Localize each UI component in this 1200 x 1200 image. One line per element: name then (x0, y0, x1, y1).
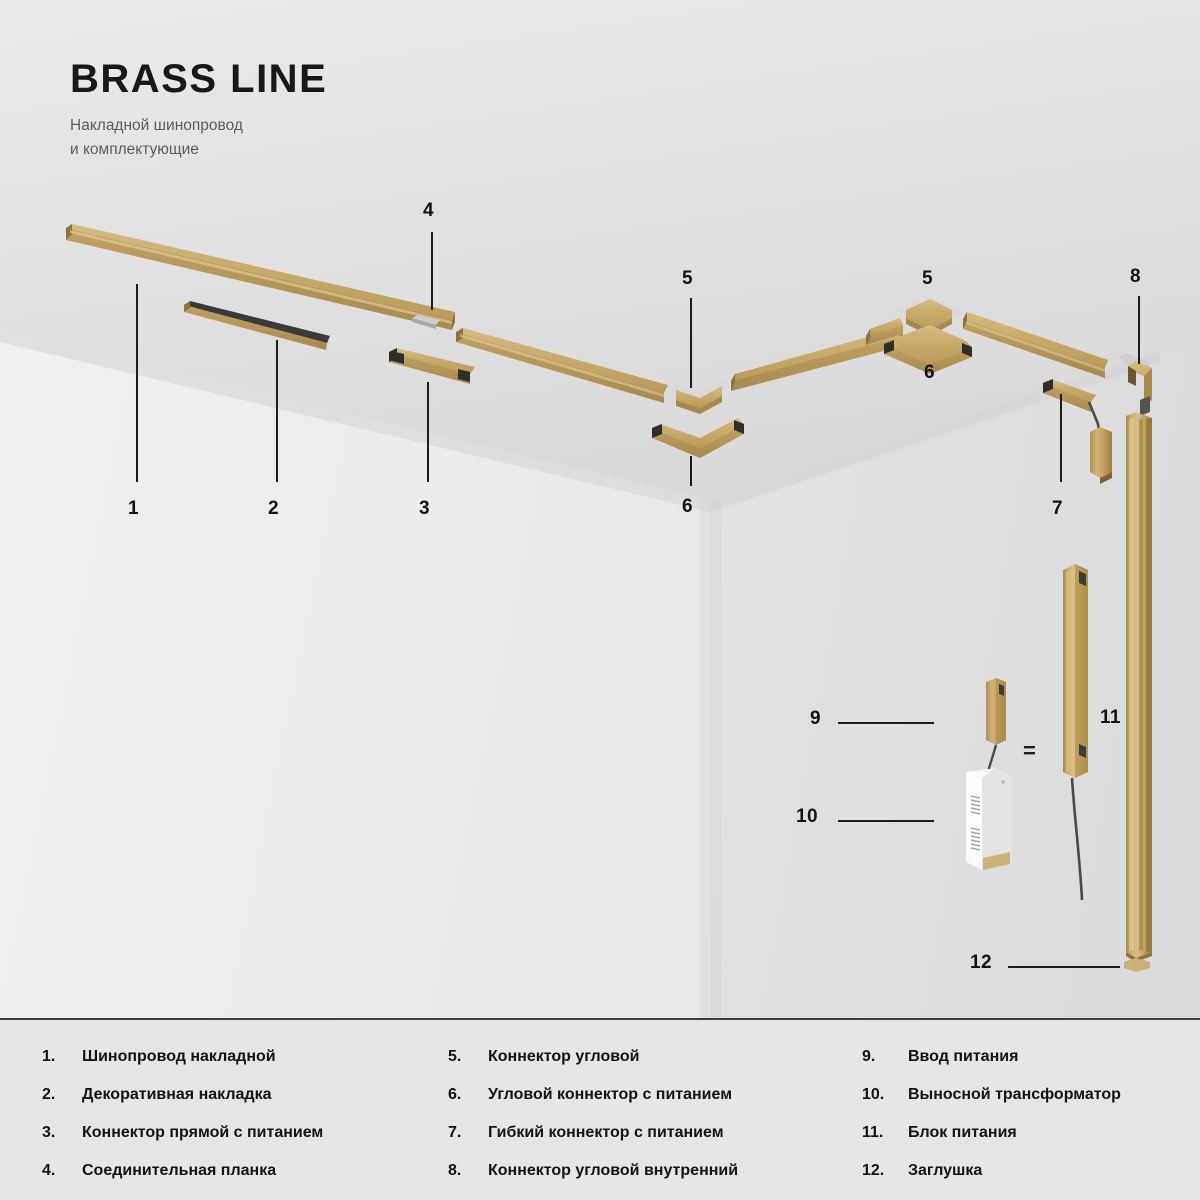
legend-item: 12.Заглушка (862, 1162, 1192, 1200)
legend-item-label: Шинопровод накладной (82, 1048, 276, 1066)
legend-item-index: 2. (42, 1086, 82, 1104)
leader-line-5a (690, 298, 692, 388)
legend-item-label: Коннектор угловой (488, 1048, 640, 1066)
leader-line-2 (276, 340, 278, 482)
legend-item: 8.Коннектор угловой внутренний (448, 1162, 858, 1200)
legend-item: 10.Выносной трансформатор (862, 1086, 1192, 1124)
legend-item-index: 9. (862, 1048, 908, 1066)
callout-number-5b: 5 (922, 268, 933, 290)
callout-number-12: 12 (970, 952, 992, 974)
callout-number-1: 1 (128, 498, 139, 520)
subtitle-line-2: и комплектующие (70, 138, 327, 162)
legend-item-label: Заглушка (908, 1162, 982, 1180)
legend-item: 11.Блок питания (862, 1124, 1192, 1162)
legend-item: 7.Гибкий коннектор с питанием (448, 1124, 858, 1162)
leader-line-7 (1060, 394, 1062, 482)
header: BRASS LINE Накладной шинопровод и компле… (70, 58, 327, 162)
callout-number-3: 3 (419, 498, 430, 520)
legend-item: 5.Коннектор угловой (448, 1048, 858, 1086)
legend-column-2: 5.Коннектор угловой6.Угловой коннектор с… (448, 1048, 858, 1200)
page-subtitle: Накладной шинопровод и комплектующие (70, 114, 327, 162)
leader-line-3 (427, 382, 429, 482)
legend-item-index: 7. (448, 1124, 488, 1142)
legend: 1.Шинопровод накладной2.Декоративная нак… (0, 1020, 1200, 1200)
callout-number-2: 2 (268, 498, 279, 520)
callout-number-11: 11 (1100, 707, 1121, 729)
legend-item-index: 6. (448, 1086, 488, 1104)
vertical-track-with-end-cap (1126, 412, 1152, 962)
legend-item-label: Коннектор угловой внутренний (488, 1162, 738, 1180)
leader-line-10 (838, 820, 934, 822)
legend-item-label: Ввод питания (908, 1048, 1018, 1066)
callout-number-6a: 6 (682, 496, 693, 518)
leader-line-12 (1008, 966, 1120, 968)
callout-number-6b: 6 (924, 362, 935, 384)
leader-line-1 (136, 284, 138, 482)
legend-item: 1.Шинопровод накладной (42, 1048, 442, 1086)
equals-symbol: = (1023, 738, 1036, 764)
legend-item: 9.Ввод питания (862, 1048, 1192, 1086)
legend-item-label: Коннектор прямой с питанием (82, 1124, 323, 1142)
leader-line-6a (690, 456, 692, 486)
legend-item: 2.Декоративная накладка (42, 1086, 442, 1124)
legend-item-label: Декоративная накладка (82, 1086, 271, 1104)
legend-item: 6.Угловой коннектор с питанием (448, 1086, 858, 1124)
callout-number-7: 7 (1052, 498, 1063, 520)
legend-item-label: Гибкий коннектор с питанием (488, 1124, 724, 1142)
legend-column-3: 9.Ввод питания10.Выносной трансформатор1… (862, 1048, 1192, 1200)
legend-item-index: 12. (862, 1162, 908, 1180)
legend-item-label: Блок питания (908, 1124, 1017, 1142)
subtitle-line-1: Накладной шинопровод (70, 114, 327, 138)
legend-item: 4.Соединительная планка (42, 1162, 442, 1200)
leader-line-9 (838, 722, 934, 724)
legend-item-label: Угловой коннектор с питанием (488, 1086, 732, 1104)
page-title: BRASS LINE (70, 58, 327, 100)
legend-item-index: 10. (862, 1086, 908, 1104)
callout-number-4: 4 (423, 200, 434, 222)
legend-item: 3.Коннектор прямой с питанием (42, 1124, 442, 1162)
legend-item-index: 3. (42, 1124, 82, 1142)
legend-item-index: 5. (448, 1048, 488, 1066)
legend-item-index: 8. (448, 1162, 488, 1180)
leader-line-8 (1138, 296, 1140, 364)
legend-item-label: Выносной трансформатор (908, 1086, 1121, 1104)
callout-number-5a: 5 (682, 268, 693, 290)
legend-column-1: 1.Шинопровод накладной2.Декоративная нак… (42, 1048, 442, 1200)
legend-item-label: Соединительная планка (82, 1162, 276, 1180)
remote-transformer (966, 768, 1012, 870)
callout-number-8: 8 (1130, 266, 1141, 288)
product-overview-page: BRASS LINE Накладной шинопровод и компле… (0, 0, 1200, 1200)
legend-item-index: 4. (42, 1162, 82, 1180)
legend-item-index: 11. (862, 1124, 908, 1142)
leader-line-4 (431, 232, 433, 310)
callout-number-10: 10 (796, 806, 818, 828)
callout-number-9: 9 (810, 708, 821, 730)
legend-item-index: 1. (42, 1048, 82, 1066)
